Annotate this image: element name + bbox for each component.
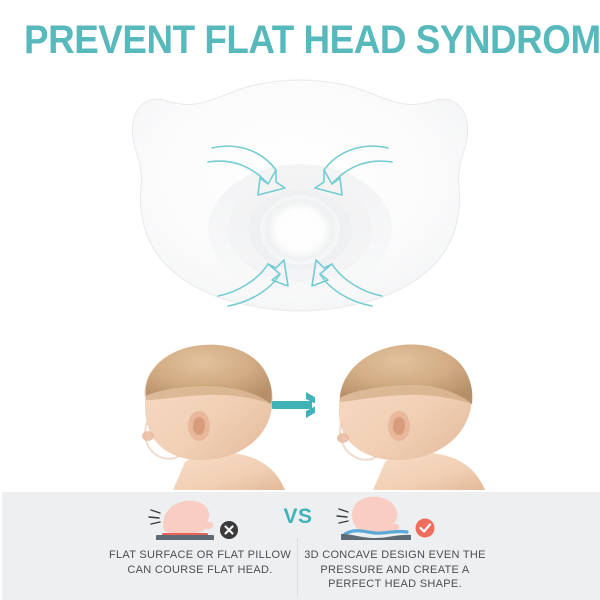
before-after-photos <box>0 330 600 490</box>
infographic-canvas: PREVENT FLAT HEAD SYNDROME <box>0 0 600 600</box>
baby-on-concave-pillow-icon <box>335 494 440 540</box>
caption-concave-pillow: 3D CONCAVE DESIGN EVEN THE PRESSURE AND … <box>300 548 490 592</box>
photo-after-round-head <box>315 330 505 490</box>
check-badge <box>416 519 435 538</box>
panel-divider <box>297 538 298 596</box>
baby-pillow-illustration <box>0 78 600 318</box>
caption-flat-pillow: FLAT SURFACE OR FLAT PILLOW CAN COURSE F… <box>105 548 295 577</box>
baby-on-flat-pillow-icon <box>148 496 243 540</box>
page-title: PREVENT FLAT HEAD SYNDROME <box>24 18 576 62</box>
vs-label: VS <box>258 505 338 529</box>
pillow-body <box>132 80 467 311</box>
product-hero <box>0 78 600 318</box>
